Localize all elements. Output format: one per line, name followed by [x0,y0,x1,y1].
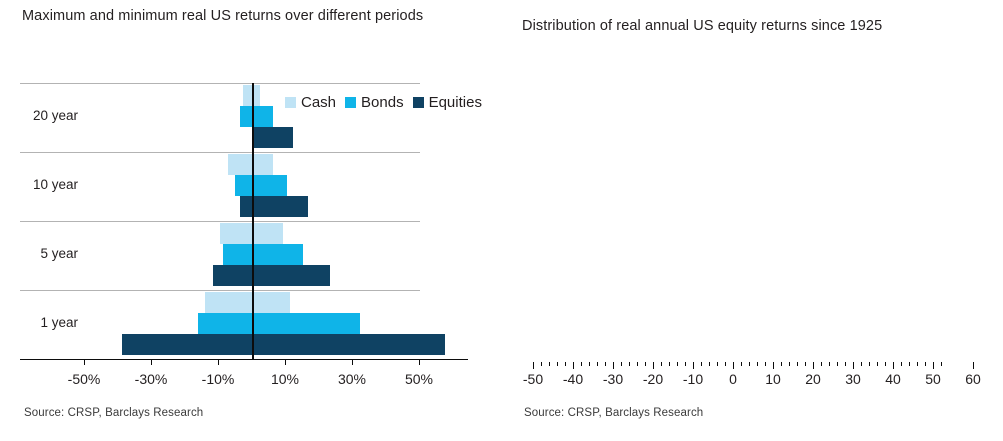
left-bar-bonds-1-year [198,313,360,334]
left-x-tick-label: -30% [135,371,168,387]
right-x-minor-tick [781,362,782,366]
right-x-minor-tick [565,362,566,366]
right-x-tick [693,362,694,369]
right-x-tick-label: 50 [925,371,941,387]
left-x-tick-label: 50% [405,371,433,387]
left-bar-bonds-5-year [223,244,303,265]
legend-swatch-bonds [345,97,356,108]
right-y-tick-label: 0 [995,351,1003,367]
left-bar-cash-1-year [205,292,290,313]
left-bar-equities-5-year [213,265,330,286]
right-x-minor-tick [861,362,862,366]
left-chart-panel: Maximum and minimum real US returns over… [0,0,500,441]
right-x-minor-tick [797,362,798,366]
legend-item-equities: Equities [413,94,482,111]
right-x-tick [933,362,934,369]
right-x-minor-tick [845,362,846,366]
right-x-minor-tick [597,362,598,366]
right-x-minor-tick [669,362,670,366]
right-x-minor-tick [789,362,790,366]
right-x-minor-tick [581,362,582,366]
right-chart-title: Distribution of real annual US equity re… [522,16,992,37]
left-x-tick [84,359,85,365]
right-x-tick-label: 30 [845,371,861,387]
left-x-axis-line [20,359,468,360]
right-x-minor-tick [805,362,806,366]
right-x-minor-tick [749,362,750,366]
right-x-minor-tick [909,362,910,366]
left-gridline [20,152,420,153]
right-y-tick-label: 2 [995,272,1003,288]
legend-item-cash: Cash [285,94,336,111]
right-x-minor-tick [901,362,902,366]
right-x-minor-tick [621,362,622,366]
right-y-tick-label: 6 [995,114,1003,130]
right-y-tick-label: 3 [995,233,1003,249]
right-x-minor-tick [765,362,766,366]
left-bar-equities-20-year [252,127,294,148]
right-x-tick-label: 0 [729,371,737,387]
left-chart-source: Source: CRSP, Barclays Research [24,407,203,419]
right-x-minor-tick [629,362,630,366]
right-x-tick-label: -40 [563,371,583,387]
right-y-tick-label: 5 [995,154,1003,170]
left-gridline [20,221,420,222]
right-x-minor-tick [701,362,702,366]
left-x-tick [285,359,286,365]
right-x-minor-tick [605,362,606,366]
right-chart-source: Source: CRSP, Barclays Research [524,407,703,419]
right-x-tick [773,362,774,369]
left-bar-bonds-20-year [240,106,274,127]
left-chart-legend: Cash Bonds Equities [285,94,482,111]
left-x-tick [419,359,420,365]
left-x-tick-label: -10% [202,371,235,387]
left-x-tick-label: -50% [68,371,101,387]
right-x-minor-tick [725,362,726,366]
left-gridline [20,290,420,291]
right-x-minor-tick [837,362,838,366]
right-x-minor-tick [557,362,558,366]
right-x-minor-tick [661,362,662,366]
left-x-tick-label: 30% [338,371,366,387]
right-x-minor-tick [637,362,638,366]
right-x-minor-tick [741,362,742,366]
right-x-tick [733,362,734,369]
right-x-minor-tick [717,362,718,366]
left-category-label: 5 year [0,246,78,261]
right-x-minor-tick [821,362,822,366]
right-x-minor-tick [549,362,550,366]
right-x-tick-label: 40 [885,371,901,387]
right-x-minor-tick [589,362,590,366]
right-x-tick [973,362,974,369]
right-x-tick [853,362,854,369]
right-x-minor-tick [645,362,646,366]
left-x-tick [151,359,152,365]
right-x-minor-tick [757,362,758,366]
right-x-tick-label: 60 [965,371,981,387]
legend-swatch-equities [413,97,424,108]
left-x-tick [352,359,353,365]
right-x-minor-tick [925,362,926,366]
right-x-minor-tick [869,362,870,366]
right-x-minor-tick [917,362,918,366]
right-x-minor-tick [885,362,886,366]
right-x-tick-label: -20 [643,371,663,387]
left-x-tick [218,359,219,365]
right-x-minor-tick [709,362,710,366]
right-x-tick-label: 10 [765,371,781,387]
left-category-label: 20 year [0,108,78,123]
legend-swatch-cash [285,97,296,108]
right-y-tick-label: 1 [995,312,1003,328]
legend-item-bonds: Bonds [345,94,404,111]
legend-label-equities: Equities [429,94,482,111]
right-y-tick-label: 4 [995,193,1003,209]
right-x-minor-tick [829,362,830,366]
left-x-tick-label: 10% [271,371,299,387]
right-x-minor-tick [877,362,878,366]
left-category-label: 10 year [0,177,78,192]
right-x-tick [613,362,614,369]
right-x-tick [653,362,654,369]
right-x-tick [813,362,814,369]
right-x-tick [573,362,574,369]
figure-pair: Maximum and minimum real US returns over… [0,0,1003,441]
right-x-tick [893,362,894,369]
right-x-tick-label: 20 [805,371,821,387]
left-zero-line [252,83,254,359]
legend-label-bonds: Bonds [361,94,404,111]
right-x-minor-tick [677,362,678,366]
right-x-minor-tick [541,362,542,366]
left-chart-title: Maximum and minimum real US returns over… [22,6,472,27]
left-plot-area [84,83,420,359]
right-chart-panel: Distribution of real annual US equity re… [500,0,1003,441]
left-bar-equities-1-year [122,334,445,355]
left-bar-equities-10-year [240,196,309,217]
right-x-tick-label: -10 [683,371,703,387]
right-x-tick-label: -50 [523,371,543,387]
left-gridline [20,83,420,84]
legend-label-cash: Cash [301,94,336,111]
right-x-tick [533,362,534,369]
right-x-minor-tick [685,362,686,366]
right-x-minor-tick [941,362,942,366]
left-bar-bonds-10-year [235,175,287,196]
right-x-tick-label: -30 [603,371,623,387]
right-y-tick-label: 7 [995,75,1003,91]
left-category-label: 1 year [0,315,78,330]
